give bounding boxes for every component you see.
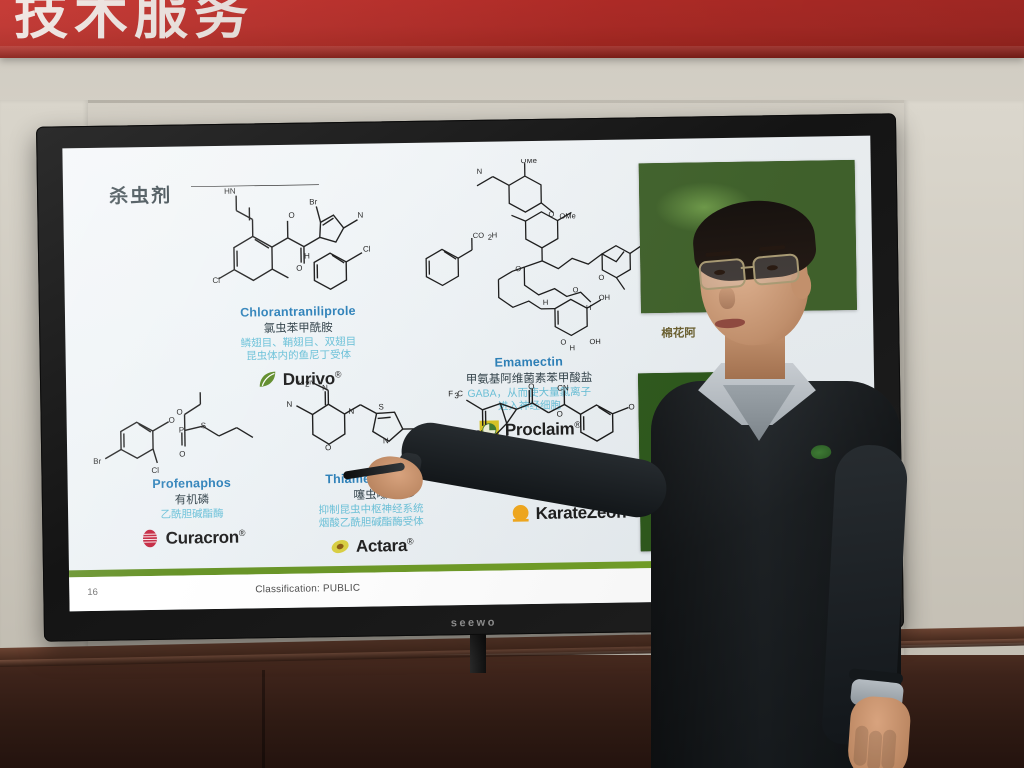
svg-text:O: O — [528, 382, 534, 391]
compound-note-2: 烟酸乙酰胆碱酯酶受体 — [266, 515, 476, 531]
svg-text:H: H — [543, 298, 549, 307]
svg-text:O: O — [573, 285, 579, 294]
svg-text:O: O — [548, 210, 554, 219]
compound-cn-name: 氯虫苯甲酰胺 — [193, 318, 403, 337]
slide-classification: Classification: PUBLIC — [255, 583, 360, 596]
classroom-scene: 技术服务 seewo 杀虫剂 — [0, 0, 1024, 768]
wall-trim-upper — [0, 100, 1024, 103]
svg-text:O: O — [176, 408, 182, 417]
svg-text:O: O — [325, 443, 331, 452]
svg-text:Br: Br — [309, 197, 317, 206]
glasses-lens-right — [752, 253, 800, 286]
svg-text:OMe: OMe — [521, 157, 537, 165]
svg-text:O: O — [557, 410, 563, 419]
product-logo-actara: Actara® — [266, 534, 476, 558]
svg-text:P: P — [179, 425, 184, 434]
svg-text:HN: HN — [224, 187, 236, 196]
presenter-nose — [718, 286, 736, 309]
chlorantraniliprole-structure: Cl HN O O Br N Cl H — [191, 183, 403, 306]
svg-text:N: N — [477, 167, 483, 176]
actara-ellipse-mark — [330, 536, 351, 557]
finger — [867, 730, 883, 768]
svg-text:O: O — [515, 264, 521, 273]
svg-text:O: O — [179, 449, 185, 458]
svg-text:N: N — [348, 407, 354, 416]
presenter — [615, 195, 955, 768]
curacron-sphere-mark — [140, 528, 161, 549]
compound-cn-name: 有机磷 — [92, 490, 292, 509]
svg-text:O: O — [598, 273, 604, 282]
svg-text:H: H — [586, 303, 592, 312]
svg-text:S: S — [201, 421, 206, 430]
karatezeon-sun-mark — [510, 503, 531, 524]
svg-text:H: H — [492, 231, 498, 240]
svg-text:Cl: Cl — [363, 245, 371, 254]
presenter-lowered-hand — [846, 695, 912, 768]
svg-text:N: N — [322, 383, 328, 392]
banner-shading — [0, 0, 1024, 58]
svg-text:N: N — [357, 211, 363, 220]
compound-note-2: 昆虫体内的鱼尼丁受体 — [194, 348, 404, 364]
svg-text:F: F — [448, 389, 453, 398]
compound-block-profenaphos: Br Cl O P O O S Profenaphos 有机磷 乙酰胆 — [90, 389, 292, 550]
compound-block-chlorantraniliprole: Cl HN O O Br N Cl H Chlorantraniliprole — [191, 183, 404, 392]
svg-text:Cl: Cl — [151, 466, 159, 475]
finger — [881, 729, 897, 768]
svg-text:C: C — [457, 389, 463, 398]
svg-text:H: H — [569, 343, 575, 352]
svg-text:OH: OH — [599, 293, 610, 302]
profenaphos-structure: Br Cl O P O O S — [90, 389, 291, 478]
podium-seam — [262, 670, 265, 768]
svg-text:O: O — [288, 211, 294, 220]
product-logo-curacron: Curacron® — [92, 526, 292, 550]
svg-text:O: O — [296, 264, 302, 273]
glasses-bridge — [741, 266, 754, 269]
compound-note-1: 乙酰胆碱酯酶 — [92, 507, 292, 523]
svg-text:O: O — [560, 337, 566, 346]
svg-text:OMe: OMe — [559, 211, 575, 220]
svg-text:CN: CN — [557, 383, 569, 392]
product-logo-text: Curacron® — [166, 527, 246, 548]
svg-text:N: N — [286, 400, 292, 409]
product-logo-text: Actara® — [356, 536, 414, 557]
svg-text:O: O — [169, 416, 175, 425]
svg-text:S: S — [378, 402, 383, 411]
svg-text:CO: CO — [473, 231, 485, 240]
svg-text:Cl: Cl — [212, 276, 220, 285]
svg-text:OH: OH — [589, 337, 600, 346]
svg-text:N: N — [383, 436, 389, 445]
red-banner: 技术服务 — [0, 0, 1024, 58]
slide-page-number: 16 — [87, 587, 98, 598]
svg-text:H: H — [304, 251, 310, 260]
slide-title: 杀虫剂 — [109, 181, 172, 209]
svg-text:Br: Br — [93, 457, 101, 466]
